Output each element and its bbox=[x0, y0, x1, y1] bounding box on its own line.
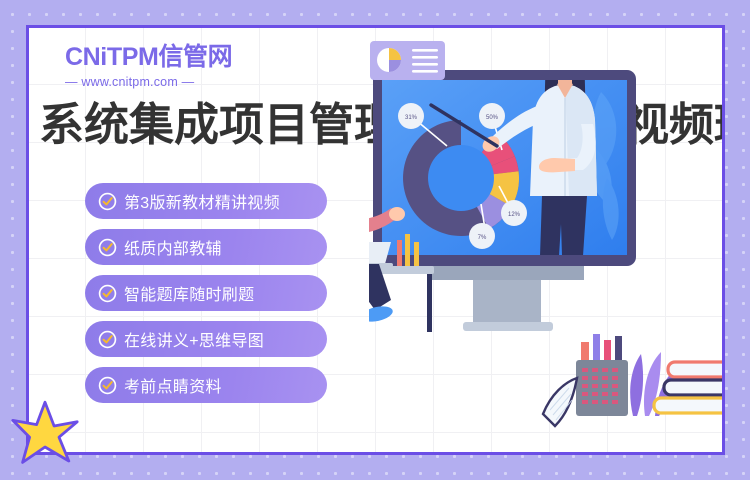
logo-url: — www.cnitpm.com — bbox=[65, 75, 232, 89]
check-circle-icon bbox=[98, 284, 117, 303]
content-card: CNiTPM信管网 — www.cnitpm.com — 系统集成项目管理工程师… bbox=[26, 25, 725, 455]
monitor-stand bbox=[429, 266, 584, 331]
feature-label: 考前点睛资料 bbox=[124, 373, 222, 397]
online-classroom-illustration: 31% 50% 12% 7% bbox=[369, 28, 724, 452]
check-circle-icon bbox=[98, 192, 117, 211]
feature-pill: 在线讲义+思维导图 bbox=[85, 321, 327, 357]
check-circle-icon bbox=[98, 376, 117, 395]
feature-label: 纸质内部教辅 bbox=[124, 235, 222, 259]
svg-text:31%: 31% bbox=[405, 115, 418, 121]
logo-wordmark: CNiTPM信管网 bbox=[65, 45, 232, 70]
svg-text:50%: 50% bbox=[486, 115, 499, 121]
brand-logo: CNiTPM信管网 — www.cnitpm.com — bbox=[65, 45, 232, 89]
feature-label: 第3版新教材精讲视频 bbox=[124, 189, 280, 213]
open-notebook bbox=[543, 378, 577, 426]
feature-pill: 智能题库随时刷题 bbox=[85, 275, 327, 311]
svg-text:12%: 12% bbox=[508, 212, 521, 218]
feature-label: 智能题库随时刷题 bbox=[124, 281, 254, 305]
feature-pill: 考前点睛资料 bbox=[85, 367, 327, 403]
check-circle-icon bbox=[98, 238, 117, 257]
stat-card-widget bbox=[370, 41, 445, 80]
star-decoration bbox=[10, 398, 80, 468]
svg-text:7%: 7% bbox=[478, 235, 487, 241]
feature-label: 在线讲义+思维导图 bbox=[124, 327, 264, 351]
poster-root: CNiTPM信管网 — www.cnitpm.com — 系统集成项目管理工程师… bbox=[0, 0, 750, 480]
book-stack bbox=[654, 362, 724, 413]
pen-holder bbox=[576, 334, 628, 416]
feature-pill: 纸质内部教辅 bbox=[85, 229, 327, 265]
feature-list: 第3版新教材精讲视频 纸质内部教辅 智能题库随时刷题 bbox=[85, 183, 327, 403]
feature-pill: 第3版新教材精讲视频 bbox=[85, 183, 327, 219]
check-circle-icon bbox=[98, 330, 117, 349]
